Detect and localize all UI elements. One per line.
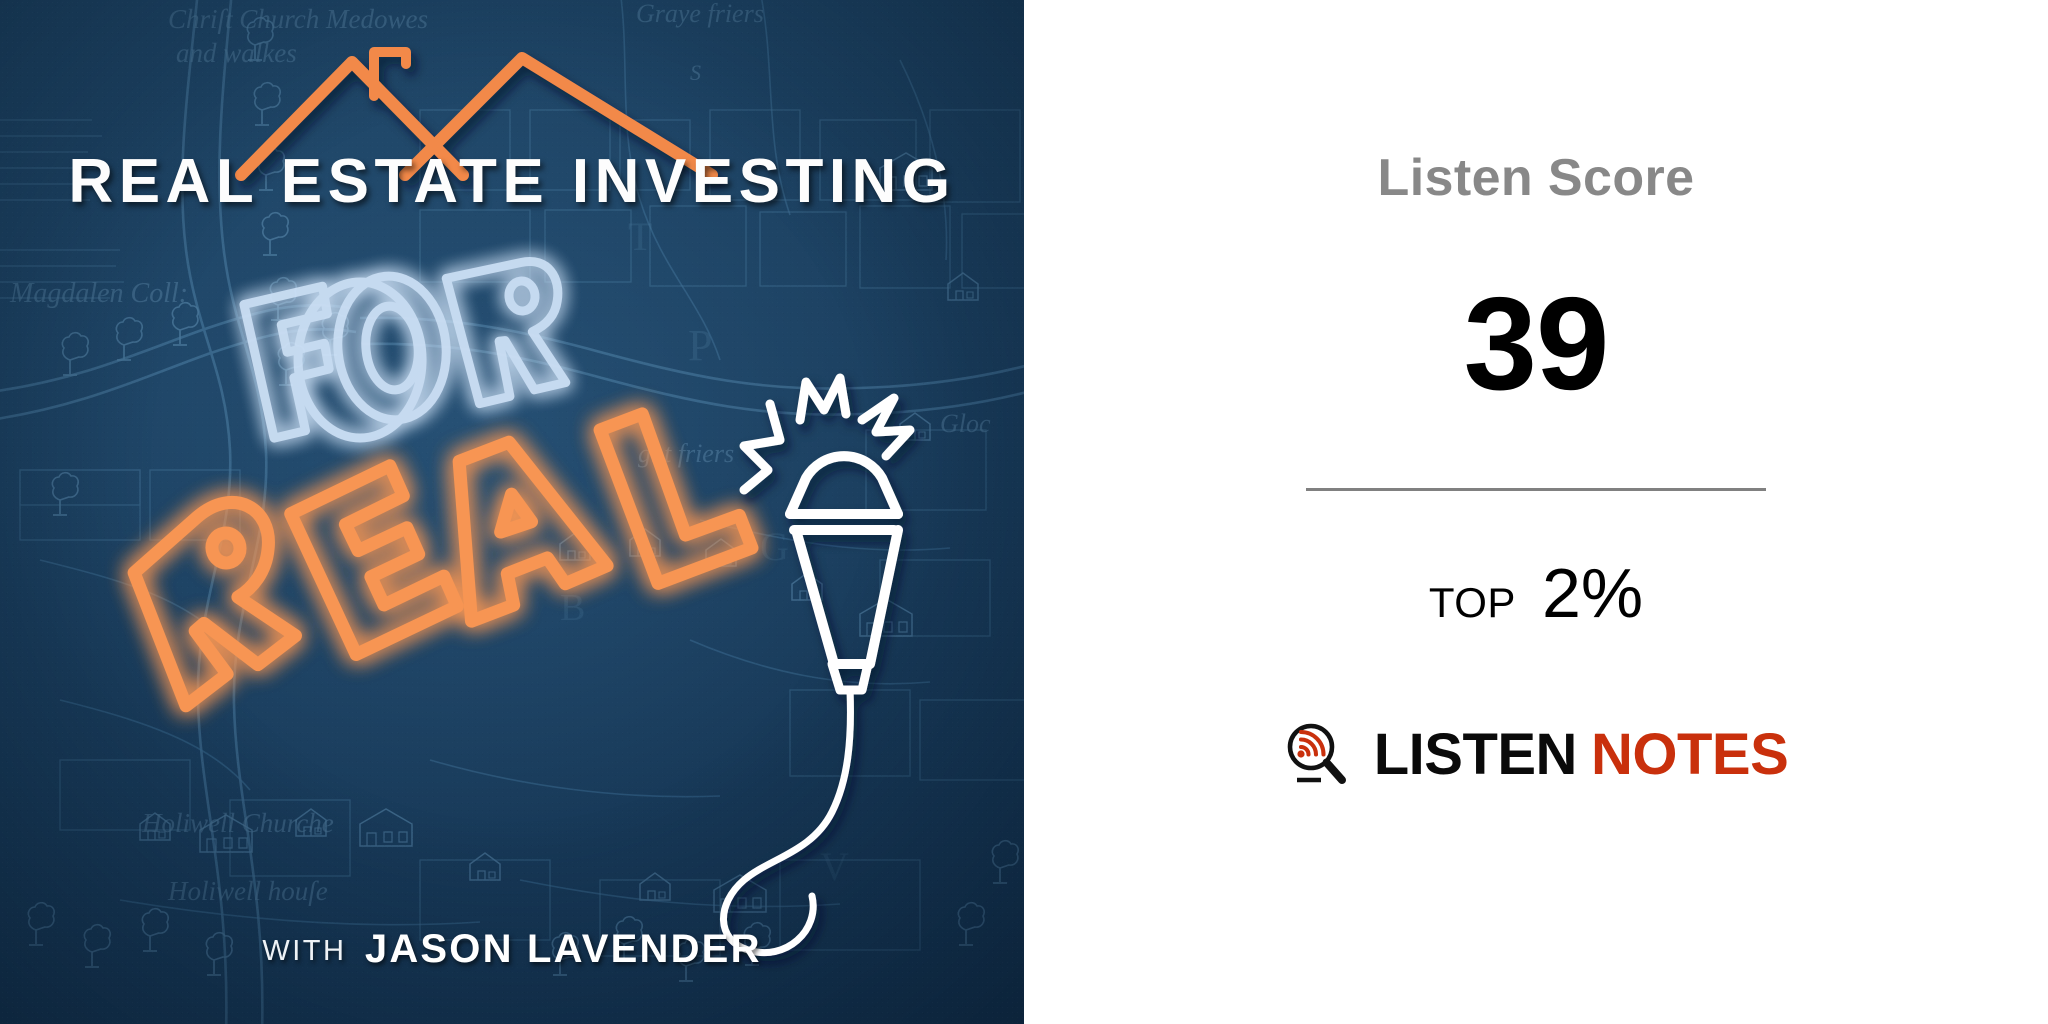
score-divider: [1306, 488, 1766, 491]
listen-notes-search-rss-icon: [1284, 721, 1352, 789]
cover-title: REAL ESTATE INVESTING: [0, 146, 1024, 217]
listen-score-rank: TOP 2%: [1429, 553, 1643, 633]
listen-notes-brand[interactable]: LISTEN NOTES: [1284, 721, 1789, 789]
rank-prefix: TOP: [1429, 579, 1516, 627]
host-name: JASON LAVENDER: [365, 927, 762, 971]
podcast-cover-art[interactable]: P T G B V Chriſt Church Medowes and walk…: [0, 0, 1024, 1024]
listen-score-panel: Listen Score 39 TOP 2%: [1024, 0, 2048, 1024]
listen-score-value: 39: [1464, 278, 1609, 410]
rank-percentile: 2%: [1542, 553, 1643, 633]
cover-host-credit: WITH JASON LAVENDER: [0, 927, 1024, 972]
listen-score-label: Listen Score: [1378, 152, 1695, 204]
brand-word-notes: NOTES: [1591, 726, 1788, 784]
listen-score-card: P T G B V Chriſt Church Medowes and walk…: [0, 0, 2048, 1024]
host-prefix: WITH: [262, 935, 346, 967]
listen-notes-wordmark: LISTEN NOTES: [1374, 726, 1789, 784]
brand-word-listen: LISTEN: [1374, 726, 1577, 784]
